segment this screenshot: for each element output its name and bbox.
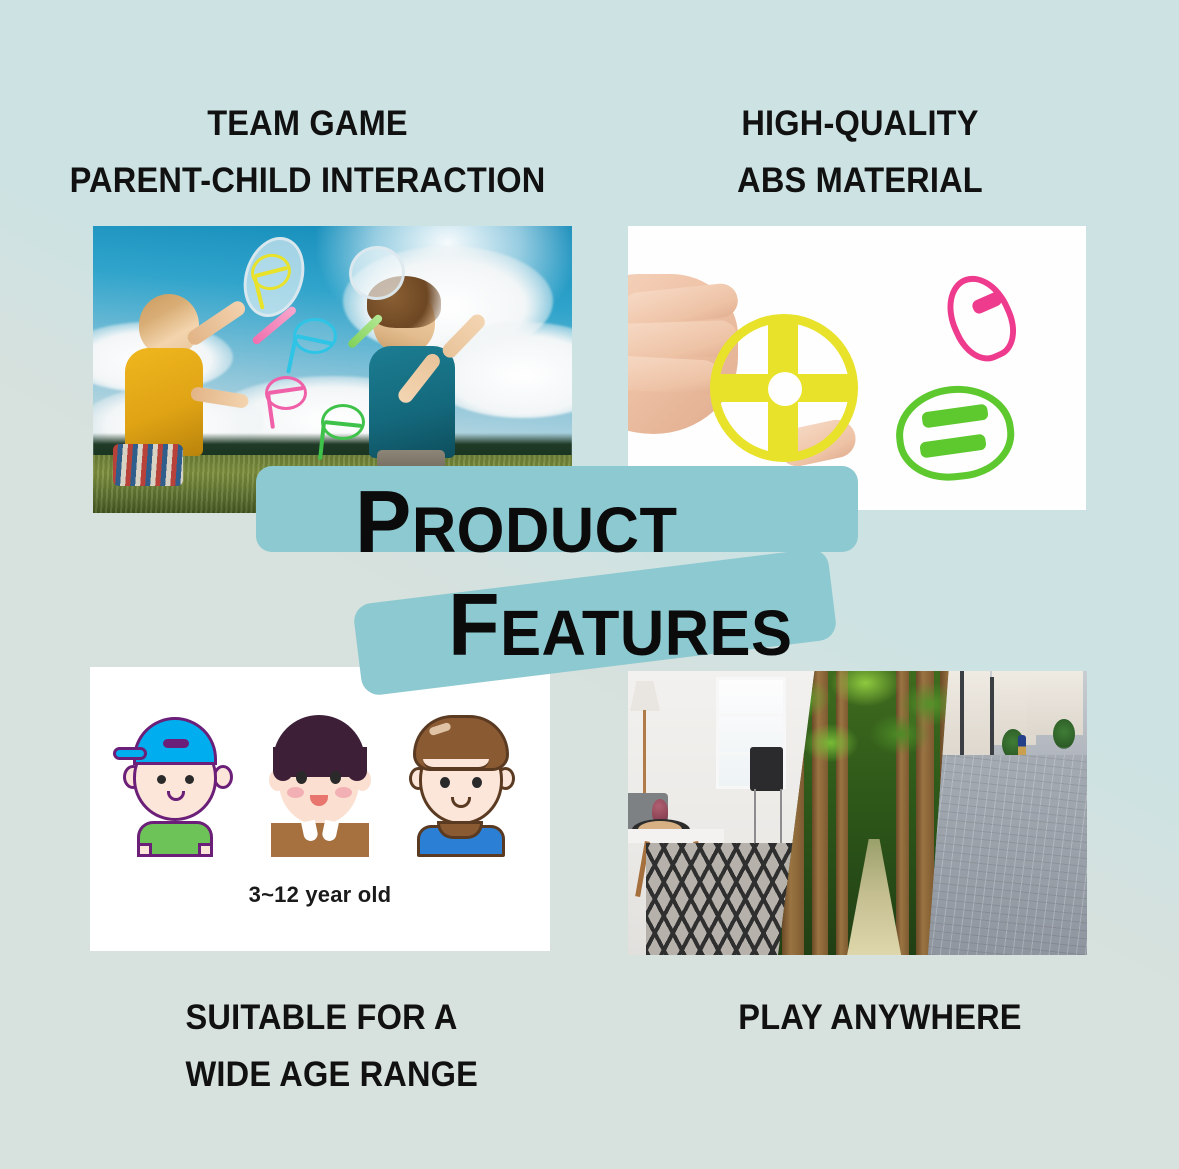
avatar-boy-with-bowl-cut xyxy=(261,703,379,861)
title-line-product: PRODUCT xyxy=(355,478,678,566)
forest-path xyxy=(847,839,901,955)
scene-street xyxy=(928,671,1087,955)
avatar-cheek-left xyxy=(287,787,304,798)
avatar-forehead xyxy=(423,759,489,770)
title-product-rest: RODUCT xyxy=(412,494,678,566)
caption-play-anywhere-line1: PLAY ANYWHERE xyxy=(648,990,1113,1047)
avatar-cap-brim xyxy=(113,747,147,760)
avatar-hair-sideburn-left xyxy=(273,747,293,781)
avatar-eye-left xyxy=(157,775,166,784)
avatar-eye-left xyxy=(440,777,450,788)
caption-abs-material: HIGH-QUALITY ABS MATERIAL xyxy=(628,96,1093,209)
chair-leg xyxy=(754,789,756,843)
photo-age-range: 3~12 year old xyxy=(90,667,550,951)
flying-disc-cyan xyxy=(293,318,337,354)
building xyxy=(942,671,990,757)
title-product-initial: P xyxy=(355,472,412,571)
avatar-cap-button xyxy=(163,739,189,748)
product-features-poster: TEAM GAME PARENT-CHILD INTERACTION HIGH-… xyxy=(0,0,1179,1169)
chair-leg xyxy=(780,789,782,843)
flying-disc-green xyxy=(321,404,365,440)
photo-play-anywhere xyxy=(628,671,1087,955)
caption-team-game-line1: TEAM GAME xyxy=(49,96,565,153)
avatar-boy-with-brown-hair xyxy=(403,703,521,861)
title-line-features: FEATURES xyxy=(448,581,792,669)
dining-chair xyxy=(750,747,783,791)
caption-abs-material-line2: ABS MATERIAL xyxy=(628,153,1093,210)
paved-sidewalk xyxy=(928,755,1087,955)
child-left-shorts xyxy=(113,444,183,486)
avatar-sleeve-right xyxy=(198,843,213,857)
age-range-label: 3~12 year old xyxy=(90,882,550,908)
child-left-head xyxy=(139,294,199,356)
caption-play-anywhere: PLAY ANYWHERE xyxy=(648,990,1113,1047)
title-features-rest: EATURES xyxy=(500,597,792,669)
avatar-sleeve-left xyxy=(137,843,152,857)
avatar-hair-sideburn-right xyxy=(347,747,367,781)
caption-abs-material-line1: HIGH-QUALITY xyxy=(628,96,1093,153)
avatar-boy-with-blue-cap xyxy=(119,703,237,861)
ring-finger xyxy=(628,355,721,395)
caption-age-range: SUITABLE FOR A WIDE AGE RANGE xyxy=(41,990,608,1103)
avatar-row xyxy=(90,703,550,861)
avatar-eye-right xyxy=(472,777,482,788)
street-pole xyxy=(990,677,994,765)
caption-age-range-line2: WIDE AGE RANGE xyxy=(186,1047,609,1104)
avatar-eye-right xyxy=(330,771,341,784)
toy-hub-yellow xyxy=(768,372,802,406)
street-tree xyxy=(1053,719,1075,749)
caption-age-range-line1: SUITABLE FOR A xyxy=(186,990,609,1047)
title-features-initial: F xyxy=(448,575,500,674)
avatar-eye-right xyxy=(185,775,194,784)
caption-team-game: TEAM GAME PARENT-CHILD INTERACTION xyxy=(49,96,565,209)
flying-disc-pink xyxy=(265,376,307,410)
child-right-shirt xyxy=(369,346,455,458)
avatar-cheek-right xyxy=(335,787,352,798)
child-left-shirt xyxy=(125,348,203,456)
avatar-eye-left xyxy=(296,771,307,784)
floor-lamp-shade xyxy=(630,681,660,711)
caption-team-game-line2: PARENT-CHILD INTERACTION xyxy=(49,153,565,210)
coffee-table xyxy=(628,829,724,843)
avatar-shirt xyxy=(271,823,369,857)
